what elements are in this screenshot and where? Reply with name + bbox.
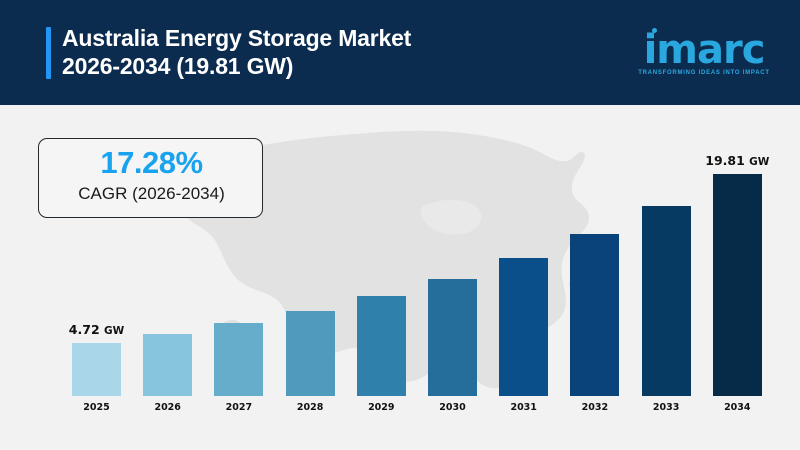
- bar-2032[interactable]: [570, 234, 619, 396]
- bar-2029[interactable]: [357, 296, 406, 396]
- page-title-line1: Australia Energy Storage Market: [62, 25, 411, 51]
- bar-2031[interactable]: [499, 258, 548, 396]
- x-axis-tick-2025: 2025: [83, 402, 109, 413]
- bar-2027[interactable]: [214, 323, 263, 396]
- bar-2034[interactable]: [713, 174, 762, 396]
- bar-group: 4.72 GW2025: [72, 343, 121, 396]
- bar-plot: 4.72 GW202520262027202820292030203120322…: [0, 105, 800, 450]
- x-axis-tick-2026: 2026: [154, 402, 180, 413]
- page-title: Australia Energy Storage Market 2026-203…: [62, 24, 622, 80]
- chart-infographic: Australia Energy Storage Market 2026-203…: [0, 0, 800, 450]
- header-banner: Australia Energy Storage Market 2026-203…: [0, 0, 800, 105]
- bar-2028[interactable]: [286, 311, 335, 396]
- bar-group: 2032: [570, 234, 619, 396]
- bar-group: 2029: [357, 296, 406, 396]
- bar-2030[interactable]: [428, 279, 477, 396]
- bar-group: 19.81 GW2034: [713, 174, 762, 396]
- x-axis-tick-2028: 2028: [297, 402, 323, 413]
- x-axis-tick-2029: 2029: [368, 402, 394, 413]
- bar-2026[interactable]: [143, 334, 192, 396]
- bar-group: 2033: [642, 206, 691, 396]
- bar-group: 2030: [428, 279, 477, 396]
- bar-group: 2031: [499, 258, 548, 396]
- x-axis-tick-2033: 2033: [653, 402, 679, 413]
- logo-tagline: TRANSFORMING IDEAS INTO IMPACT: [634, 70, 774, 76]
- x-axis-tick-2031: 2031: [510, 402, 536, 413]
- bar-2025[interactable]: [72, 343, 121, 396]
- x-axis-tick-2032: 2032: [582, 402, 608, 413]
- bar-2033[interactable]: [642, 206, 691, 396]
- x-axis-tick-2027: 2027: [226, 402, 252, 413]
- chart-area: 17.28% CAGR (2026-2034) 4.72 GW202520262…: [0, 105, 800, 450]
- page-title-line2: 2026-2034 (19.81 GW): [62, 52, 622, 80]
- bar-value-label-2034: 19.81 GW: [705, 153, 769, 168]
- bar-group: 2027: [214, 323, 263, 396]
- bar-group: 2028: [286, 311, 335, 396]
- bar-value-label-2025: 4.72 GW: [69, 322, 124, 337]
- logo-wordmark: imarc: [634, 30, 774, 70]
- bar-group: 2026: [143, 334, 192, 396]
- header-accent-bar: [46, 27, 51, 79]
- x-axis-tick-2034: 2034: [724, 402, 750, 413]
- imarc-logo[interactable]: imarc TRANSFORMING IDEAS INTO IMPACT: [634, 26, 774, 82]
- x-axis-tick-2030: 2030: [439, 402, 465, 413]
